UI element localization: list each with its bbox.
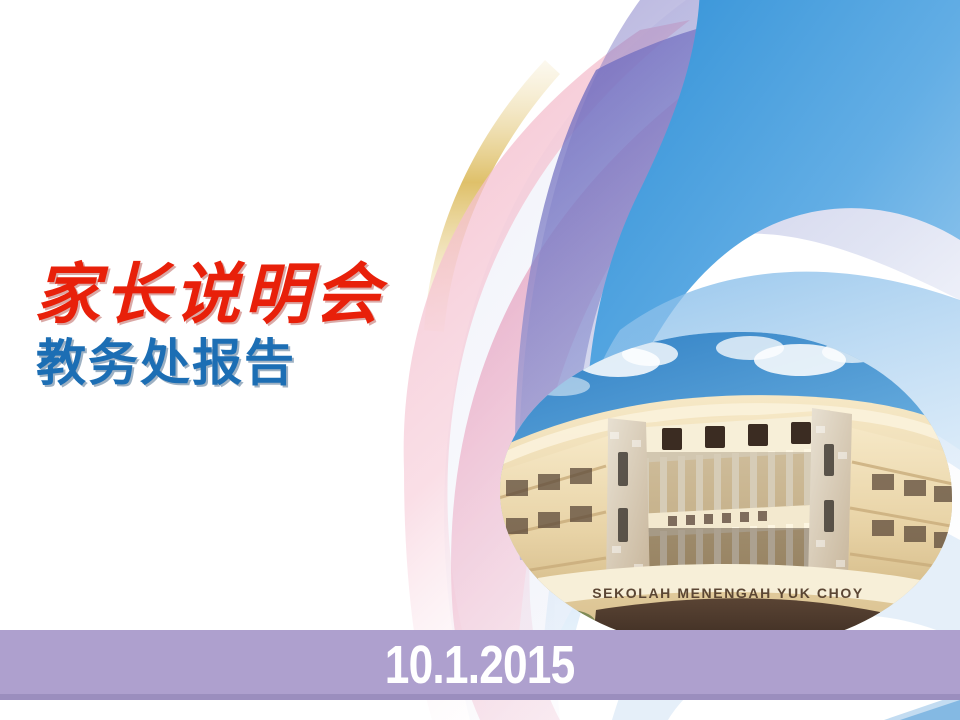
title-block: 家长说明会 教务处报告	[34, 258, 454, 392]
date-banner: 10.1.2015	[0, 630, 960, 700]
page-title: 家长说明会	[34, 258, 454, 332]
date-text: 10.1.2015	[385, 634, 575, 696]
presentation-slide: SEKOLAH MENENGAH YUK CHOY 家长说明会 教务处报告 10…	[0, 0, 960, 720]
photo-circular-crop: SEKOLAH MENENGAH YUK CHOY	[500, 332, 952, 650]
school-building-photo: SEKOLAH MENENGAH YUK CHOY	[500, 332, 952, 650]
page-subtitle: 教务处报告	[36, 334, 454, 392]
banner-bottom-shade	[0, 694, 960, 700]
